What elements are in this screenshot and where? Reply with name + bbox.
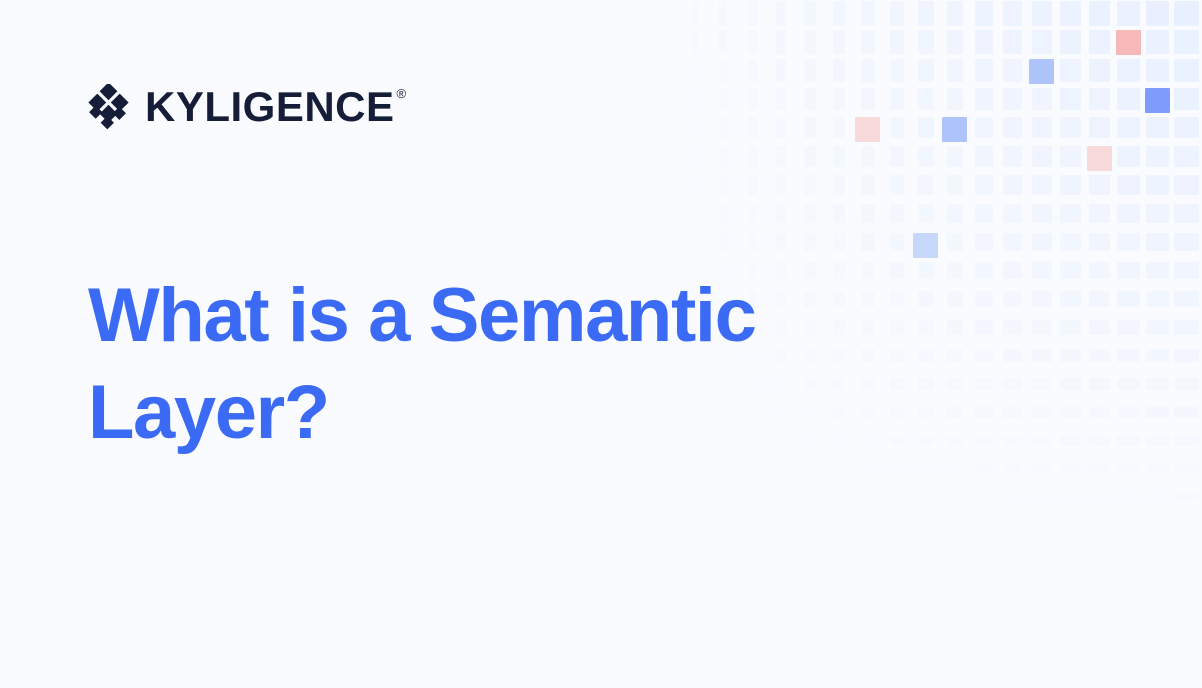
grid-pattern-cell <box>691 146 698 167</box>
grid-pattern-cell <box>861 407 875 418</box>
grid-pattern-cell <box>1116 30 1141 55</box>
grid-pattern-cell <box>691 233 698 251</box>
grid-pattern-cell <box>748 233 757 251</box>
grid-pattern-cell <box>1146 349 1169 362</box>
grid-pattern-cell <box>1146 146 1169 167</box>
grid-pattern-cell <box>1174 204 1198 223</box>
grid-pattern-cell <box>833 204 846 223</box>
grid-pattern-cell <box>719 117 727 138</box>
grid-pattern-cell <box>1003 320 1022 335</box>
grid-pattern-cell <box>890 233 905 251</box>
grid-pattern-cell <box>975 233 993 251</box>
grid-pattern-cell <box>1146 494 1169 501</box>
grid-pattern-cell <box>861 204 875 223</box>
grid-pattern-cell <box>719 494 727 501</box>
grid-pattern-cell <box>861 88 875 110</box>
grid-pattern-cell <box>861 494 875 501</box>
grid-pattern-cell <box>1117 262 1139 279</box>
grid-pattern-cell <box>975 349 993 362</box>
grid-pattern-cell <box>1089 465 1110 473</box>
grid-pattern-cell <box>975 175 993 195</box>
grid-pattern-cell <box>975 436 993 446</box>
grid-pattern-cell <box>1174 1 1198 26</box>
grid-pattern-cell <box>833 88 846 110</box>
grid-pattern-cell <box>1089 117 1110 138</box>
grid-pattern-cell <box>861 349 875 362</box>
grid-pattern-cell <box>942 117 967 142</box>
grid-pattern-cell <box>918 30 934 54</box>
grid-pattern-cell <box>1089 204 1110 223</box>
grid-pattern-cell <box>1174 378 1198 390</box>
grid-pattern-cell <box>1146 320 1169 335</box>
grid-pattern-cell <box>833 436 846 446</box>
grid-pattern-cell <box>918 378 934 390</box>
grid-pattern-cell <box>947 204 964 223</box>
grid-pattern-cell <box>1060 465 1081 473</box>
grid-pattern-cell <box>1089 494 1110 501</box>
grid-pattern-cell <box>833 262 846 279</box>
grid-pattern-cell <box>776 59 787 82</box>
grid-pattern-cell <box>776 117 787 138</box>
grid-pattern-cell <box>975 465 993 473</box>
grid-pattern-cell <box>1029 59 1054 84</box>
grid-pattern-cell <box>719 59 727 82</box>
grid-pattern-cell <box>804 465 816 473</box>
grid-pattern-cell <box>861 146 875 167</box>
grid-pattern-cell <box>947 349 964 362</box>
grid-pattern-cell <box>1117 378 1139 390</box>
grid-pattern-cell <box>833 465 846 473</box>
grid-pattern-cell <box>861 378 875 390</box>
grid-pattern-cell <box>918 175 934 195</box>
grid-pattern-cell <box>748 494 757 501</box>
grid-pattern-cell <box>1174 146 1198 167</box>
page-title-line-1: What is a Semantic <box>88 268 808 365</box>
grid-pattern-cell <box>1089 59 1110 82</box>
grid-pattern-cell <box>748 59 757 82</box>
grid-pattern-cell <box>748 88 757 110</box>
grid-pattern-cell <box>947 320 964 335</box>
grid-pattern-cell <box>1146 1 1169 26</box>
grid-pattern-cell <box>1146 262 1169 279</box>
grid-pattern-cell <box>1146 378 1169 390</box>
grid-pattern-cell <box>1089 320 1110 335</box>
grid-pattern-cell <box>1089 175 1110 195</box>
grid-pattern-cell <box>1060 204 1081 223</box>
grid-pattern-cell <box>804 30 816 54</box>
grid-pattern-cell <box>918 407 934 418</box>
grid-pattern-cell <box>1032 1 1052 26</box>
grid-pattern-cell <box>1032 465 1052 473</box>
grid-pattern-cell <box>1003 465 1022 473</box>
grid-pattern-cell <box>1117 349 1139 362</box>
grid-pattern-cell <box>748 204 757 223</box>
grid-pattern-cell <box>1060 30 1081 54</box>
grid-pattern-cell <box>918 291 934 307</box>
grid-pattern-cell <box>748 1 757 26</box>
grid-pattern-cell <box>1089 88 1110 110</box>
grid-pattern-cell <box>855 117 880 142</box>
grid-pattern-cell <box>833 291 846 307</box>
grid-pattern-cell <box>1146 465 1169 473</box>
grid-pattern-cell <box>1146 436 1169 446</box>
grid-pattern-cell <box>975 378 993 390</box>
registered-trademark-icon: ® <box>397 87 407 100</box>
grid-pattern-cell <box>804 88 816 110</box>
grid-pattern-cell <box>890 494 905 501</box>
grid-pattern-cell <box>1003 494 1022 501</box>
grid-pattern-cell <box>1174 436 1198 446</box>
grid-pattern-cell <box>1032 30 1052 54</box>
grid-pattern-cell <box>1089 30 1110 54</box>
grid-pattern-cell <box>1003 291 1022 307</box>
grid-pattern-cell <box>804 146 816 167</box>
grid-pattern-cell <box>890 204 905 223</box>
grid-pattern-cell <box>776 146 787 167</box>
grid-pattern-cell <box>975 30 993 54</box>
grid-pattern-cell <box>1032 320 1052 335</box>
grid-pattern-cell <box>1003 117 1022 138</box>
grid-pattern-cell <box>833 233 846 251</box>
grid-pattern-cell <box>691 465 698 473</box>
grid-pattern-cell <box>975 1 993 26</box>
grid-pattern-cell <box>861 59 875 82</box>
grid-pattern-cell <box>1146 233 1169 251</box>
grid-pattern-cell <box>890 146 905 167</box>
grid-pattern-cell <box>918 320 934 335</box>
grid-pattern-cell <box>776 88 787 110</box>
grid-pattern-cell <box>1003 436 1022 446</box>
grid-pattern-cell <box>975 146 993 167</box>
grid-pattern-cell <box>918 59 934 82</box>
grid-pattern-cell <box>1089 291 1110 307</box>
grid-pattern-cell <box>1060 407 1081 418</box>
grid-pattern-cell <box>1089 407 1110 418</box>
grid-pattern-cell <box>804 1 816 26</box>
grid-pattern-cell <box>918 88 934 110</box>
grid-pattern-cell <box>1117 465 1139 473</box>
grid-pattern-cell <box>890 59 905 82</box>
grid-pattern-cell <box>748 465 757 473</box>
grid-pattern-cell <box>776 494 787 501</box>
slide-canvas: KYLIGENCE ® What is a Semantic Layer? <box>0 0 1202 688</box>
grid-pattern-cell <box>975 494 993 501</box>
grid-pattern-cell <box>719 175 727 195</box>
grid-pattern-cell <box>1003 59 1022 82</box>
grid-pattern-cell <box>1060 59 1081 82</box>
grid-pattern-cell <box>861 175 875 195</box>
grid-pattern-cell <box>748 117 757 138</box>
grid-pattern-cell <box>861 1 875 26</box>
grid-pattern-cell <box>1003 233 1022 251</box>
page-title-line-2: Layer? <box>88 365 808 462</box>
grid-pattern-cell <box>913 233 938 258</box>
grid-pattern-cell <box>804 233 816 251</box>
grid-pattern-cell <box>1174 262 1198 279</box>
grid-pattern-cell <box>1032 494 1052 501</box>
grid-pattern-cell <box>1117 291 1139 307</box>
grid-pattern-cell <box>776 1 787 26</box>
grid-pattern-cell <box>1060 436 1081 446</box>
grid-pattern-cell <box>1174 291 1198 307</box>
grid-pattern-cell <box>975 262 993 279</box>
grid-pattern-cell <box>918 465 934 473</box>
grid-pattern-cell <box>776 233 787 251</box>
grid-pattern-cell <box>719 146 727 167</box>
grid-pattern-cell <box>1174 349 1198 362</box>
grid-pattern-cell <box>776 465 787 473</box>
grid-pattern-cell <box>1032 146 1052 167</box>
kyligence-logo: KYLIGENCE ® <box>88 84 406 130</box>
grid-pattern-cell <box>804 59 816 82</box>
grid-pattern-cell <box>748 146 757 167</box>
grid-pattern-cell <box>1089 233 1110 251</box>
grid-pattern-cell <box>1174 117 1198 138</box>
grid-pattern-cell <box>1003 30 1022 54</box>
grid-pattern-cell <box>1003 88 1022 110</box>
grid-pattern-cell <box>1174 175 1198 195</box>
grid-pattern-cell <box>1146 30 1169 54</box>
grid-pattern-cell <box>890 320 905 335</box>
grid-pattern-cell <box>719 30 727 54</box>
grid-pattern-cell <box>1032 233 1052 251</box>
grid-pattern-cell <box>1174 88 1198 110</box>
grid-pattern-cell <box>719 88 727 110</box>
grid-pattern-cell <box>1032 378 1052 390</box>
grid-pattern-cell <box>947 30 964 54</box>
grid-pattern-cell <box>833 30 846 54</box>
grid-pattern-cell <box>1174 59 1198 82</box>
grid-pattern-cell <box>833 146 846 167</box>
grid-pattern-cell <box>1174 494 1198 501</box>
grid-pattern-cell <box>890 1 905 26</box>
grid-pattern-cell <box>1060 349 1081 362</box>
grid-pattern-cell <box>975 291 993 307</box>
grid-pattern-cell <box>1089 1 1110 26</box>
grid-pattern-cell <box>1174 320 1198 335</box>
grid-pattern-cell <box>748 30 757 54</box>
grid-pattern-cell <box>861 465 875 473</box>
grid-pattern-cell <box>833 494 846 501</box>
logo-text: KYLIGENCE <box>145 86 395 128</box>
grid-pattern-cell <box>1003 378 1022 390</box>
grid-pattern-cell <box>719 204 727 223</box>
grid-pattern-cell <box>1146 175 1169 195</box>
grid-pattern-cell <box>691 88 698 110</box>
grid-pattern-cell <box>1032 88 1052 110</box>
grid-pattern-cell <box>1146 291 1169 307</box>
grid-pattern-cell <box>1146 407 1169 418</box>
grid-pattern-cell <box>1032 175 1052 195</box>
grid-pattern-cell <box>1032 349 1052 362</box>
grid-pattern-cell <box>1174 30 1198 54</box>
grid-pattern-cell <box>947 146 964 167</box>
page-title: What is a Semantic Layer? <box>88 268 808 461</box>
grid-pattern-cell <box>890 30 905 54</box>
grid-pattern-cell <box>1117 117 1139 138</box>
grid-pattern-cell <box>861 291 875 307</box>
grid-pattern-cell <box>890 88 905 110</box>
grid-pattern-cell <box>1060 88 1081 110</box>
grid-pattern-cell <box>890 436 905 446</box>
grid-pattern-cell <box>890 291 905 307</box>
grid-pattern-cell <box>1003 1 1022 26</box>
grid-pattern-cell <box>1089 378 1110 390</box>
grid-pattern-cell <box>947 262 964 279</box>
grid-pattern-cell <box>691 1 698 26</box>
grid-pattern-cell <box>1146 117 1169 138</box>
grid-pattern-cell <box>804 204 816 223</box>
grid-pattern-cell <box>947 1 964 26</box>
grid-pattern-cell <box>1060 320 1081 335</box>
grid-pattern-cell <box>1146 59 1169 82</box>
grid-pattern-cell <box>1003 407 1022 418</box>
grid-pattern-cell <box>1032 291 1052 307</box>
grid-pattern-cell <box>918 204 934 223</box>
grid-pattern-cell <box>1117 88 1139 110</box>
grid-pattern-cell <box>1003 175 1022 195</box>
grid-pattern-cell <box>918 146 934 167</box>
grid-pattern-cell <box>1117 59 1139 82</box>
grid-pattern-cell <box>691 204 698 223</box>
grid-pattern-cell <box>833 407 846 418</box>
grid-pattern-cell <box>918 494 934 501</box>
grid-pattern-cell <box>947 59 964 82</box>
grid-pattern-cell <box>861 320 875 335</box>
grid-pattern-cell <box>1089 262 1110 279</box>
grid-pattern-cell <box>861 436 875 446</box>
grid-pattern-cell <box>975 117 993 138</box>
grid-pattern-cell <box>719 465 727 473</box>
grid-pattern-cell <box>947 88 964 110</box>
grid-pattern-cell <box>947 407 964 418</box>
grid-pattern-cell <box>1060 146 1081 167</box>
grid-pattern-cell <box>1003 262 1022 279</box>
grid-pattern-cell <box>918 1 934 26</box>
grid-pattern-cell <box>1117 436 1139 446</box>
grid-pattern-cell <box>975 204 993 223</box>
grid-pattern-cell <box>1060 262 1081 279</box>
grid-pattern-cell <box>890 378 905 390</box>
grid-pattern-cell <box>1003 146 1022 167</box>
logo-wordmark: KYLIGENCE ® <box>145 86 406 128</box>
grid-pattern-cell <box>947 494 964 501</box>
grid-pattern-cell <box>804 117 816 138</box>
grid-pattern-cell <box>1089 436 1110 446</box>
grid-pattern-cell <box>1060 494 1081 501</box>
grid-pattern-cell <box>833 1 846 26</box>
grid-pattern-cell <box>1117 494 1139 501</box>
grid-pattern-cell <box>833 378 846 390</box>
grid-pattern-cell <box>833 175 846 195</box>
grid-pattern-cell <box>1032 436 1052 446</box>
grid-pattern-cell <box>947 436 964 446</box>
grid-pattern-cell <box>1146 204 1169 223</box>
grid-pattern-cell <box>890 117 905 138</box>
grid-pattern-cell <box>975 59 993 82</box>
diamond-grid-icon <box>88 84 134 130</box>
grid-pattern-cell <box>1060 1 1081 26</box>
grid-pattern-cell <box>918 349 934 362</box>
grid-pattern-cell <box>1117 320 1139 335</box>
grid-pattern-cell <box>776 175 787 195</box>
grid-pattern-cell <box>1032 262 1052 279</box>
grid-pattern-cell <box>975 320 993 335</box>
grid-pattern-cell <box>1032 117 1052 138</box>
grid-pattern-cell <box>918 436 934 446</box>
grid-pattern-cell <box>776 30 787 54</box>
grid-pattern-cell <box>918 262 934 279</box>
grid-pattern-cell <box>1060 291 1081 307</box>
grid-pattern-cell <box>947 233 964 251</box>
grid-pattern-cell <box>833 117 846 138</box>
grid-pattern-cell <box>1117 146 1139 167</box>
grid-pattern-cell <box>890 465 905 473</box>
grid-pattern-cell <box>1032 204 1052 223</box>
grid-pattern-cell <box>1003 349 1022 362</box>
grid-pattern-cell <box>691 117 698 138</box>
grid-pattern-cell <box>890 175 905 195</box>
grid-pattern-cell <box>1003 204 1022 223</box>
grid-pattern-cell <box>1145 88 1170 113</box>
grid-pattern-cell <box>1117 204 1139 223</box>
grid-pattern-cell <box>748 175 757 195</box>
grid-pattern-cell <box>1060 117 1081 138</box>
grid-pattern-cell <box>1117 175 1139 195</box>
grid-pattern-cell <box>804 494 816 501</box>
grid-pattern-cell <box>947 175 964 195</box>
grid-pattern-cell <box>890 407 905 418</box>
grid-pattern-cell <box>890 349 905 362</box>
grid-pattern-cell <box>1174 233 1198 251</box>
grid-pattern-cell <box>975 88 993 110</box>
grid-pattern-cell <box>861 30 875 54</box>
grid-pattern-cell <box>833 349 846 362</box>
grid-pattern-cell <box>947 378 964 390</box>
grid-pattern-cell <box>861 262 875 279</box>
grid-pattern-cell <box>776 204 787 223</box>
grid-pattern-cell <box>1060 378 1081 390</box>
grid-pattern-cell <box>1060 233 1081 251</box>
grid-pattern-cell <box>861 233 875 251</box>
grid-pattern-cell <box>1174 407 1198 418</box>
grid-pattern-cell <box>1117 233 1139 251</box>
grid-pattern-cell <box>947 465 964 473</box>
grid-pattern-cell <box>804 175 816 195</box>
grid-pattern-cell <box>691 175 698 195</box>
grid-pattern-cell <box>691 30 698 54</box>
grid-pattern-cell <box>1087 146 1112 171</box>
grid-pattern-cell <box>975 407 993 418</box>
grid-pattern-cell <box>1117 407 1139 418</box>
grid-pattern-cell <box>1032 407 1052 418</box>
grid-pattern-cell <box>1060 175 1081 195</box>
grid-pattern-cell <box>719 1 727 26</box>
grid-pattern-cell <box>890 262 905 279</box>
grid-pattern-cell <box>833 320 846 335</box>
grid-pattern-cell <box>947 291 964 307</box>
grid-pattern-cell <box>918 117 934 138</box>
grid-pattern-cell <box>691 59 698 82</box>
grid-pattern-cell <box>1117 1 1139 26</box>
grid-pattern-cell <box>833 59 846 82</box>
grid-pattern-cell <box>1174 465 1198 473</box>
grid-pattern-cell <box>1089 349 1110 362</box>
grid-pattern-cell <box>719 233 727 251</box>
